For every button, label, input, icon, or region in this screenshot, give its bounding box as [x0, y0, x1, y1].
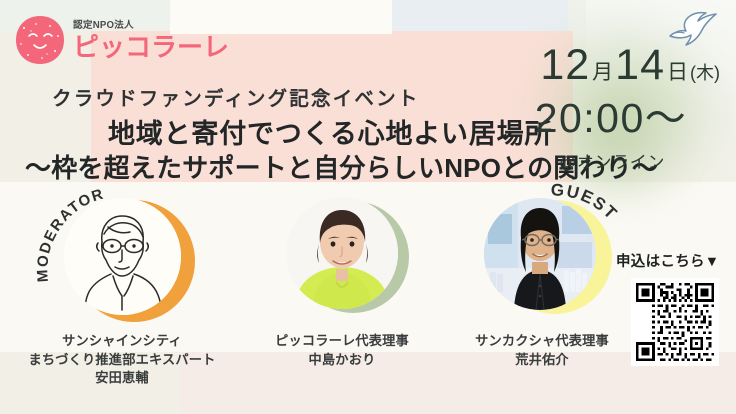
date-month-unit: 月 — [590, 62, 615, 83]
line-art-man-with-glasses-portrait — [64, 198, 181, 315]
logo-sublabel: 認定NPO法人 — [73, 21, 217, 31]
speaker-card-center: ピッコラーレ代表理事 中島かおり — [252, 196, 432, 369]
speaker-card-moderator: MODERATOR サンシャインシティ まちづくり推進部エキスパート 安田恵輔 — [12, 196, 232, 388]
qr-code[interactable] — [631, 278, 719, 366]
photo-woman-short-hair-green-top — [286, 197, 398, 309]
center-name: 中島かおり — [252, 351, 432, 370]
logo-name: ピッコラーレ — [73, 34, 229, 60]
moderator-caption: サンシャインシティ まちづくり推進部エキスパート 安田恵輔 — [12, 332, 232, 388]
qr-code-icon — [636, 283, 714, 361]
center-photo — [286, 197, 398, 309]
organization-logo: 認定NPO法人 ピッコラーレ — [14, 14, 229, 66]
signup-label: 申込はこちら▼ — [616, 250, 719, 271]
photo-man-long-hair-black-shirt — [484, 198, 596, 310]
pink-face-circle-icon — [14, 14, 66, 66]
moderator-portrait: MODERATOR — [47, 196, 197, 326]
event-venue: @オンライン — [508, 148, 720, 173]
event-time: 20:00〜 — [508, 98, 720, 139]
center-portrait — [275, 196, 409, 326]
guest-portrait: GUEST — [470, 196, 614, 326]
event-kicker: クラウドファンディング記念イベント — [52, 82, 420, 111]
date-day-unit: 日 — [665, 62, 690, 83]
guest-org: サンカクシャ代表理事 — [452, 332, 632, 351]
speaker-card-guest: GUEST サンカクシャ代表理事 荒井佑介 — [452, 196, 632, 369]
date-weekday: (木) — [690, 64, 720, 82]
moderator-photo — [64, 198, 181, 315]
event-title-line1: 地域と寄付でつくる心地よい居場所 — [108, 112, 552, 151]
guest-photo — [484, 198, 596, 310]
date-month-number: 12 — [540, 44, 590, 87]
date-day-number: 14 — [615, 44, 665, 87]
moderator-org: サンシャインシティ — [12, 332, 232, 351]
guest-name: 荒井佑介 — [452, 351, 632, 370]
event-flyer: 認定NPO法人 ピッコラーレ クラウドファンディング記念イベント 地域と寄付でつ… — [0, 0, 736, 414]
moderator-name: 安田恵輔 — [12, 369, 232, 388]
moderator-role: まちづくり推進部エキスパート — [12, 351, 232, 370]
guest-caption: サンカクシャ代表理事 荒井佑介 — [452, 332, 632, 369]
center-org: ピッコラーレ代表理事 — [252, 332, 432, 351]
center-caption: ピッコラーレ代表理事 中島かおり — [252, 332, 432, 369]
event-date: 12 月 14 日 (木) — [508, 44, 720, 87]
event-schedule: 12 月 14 日 (木) 20:00〜 @オンライン — [508, 44, 720, 173]
